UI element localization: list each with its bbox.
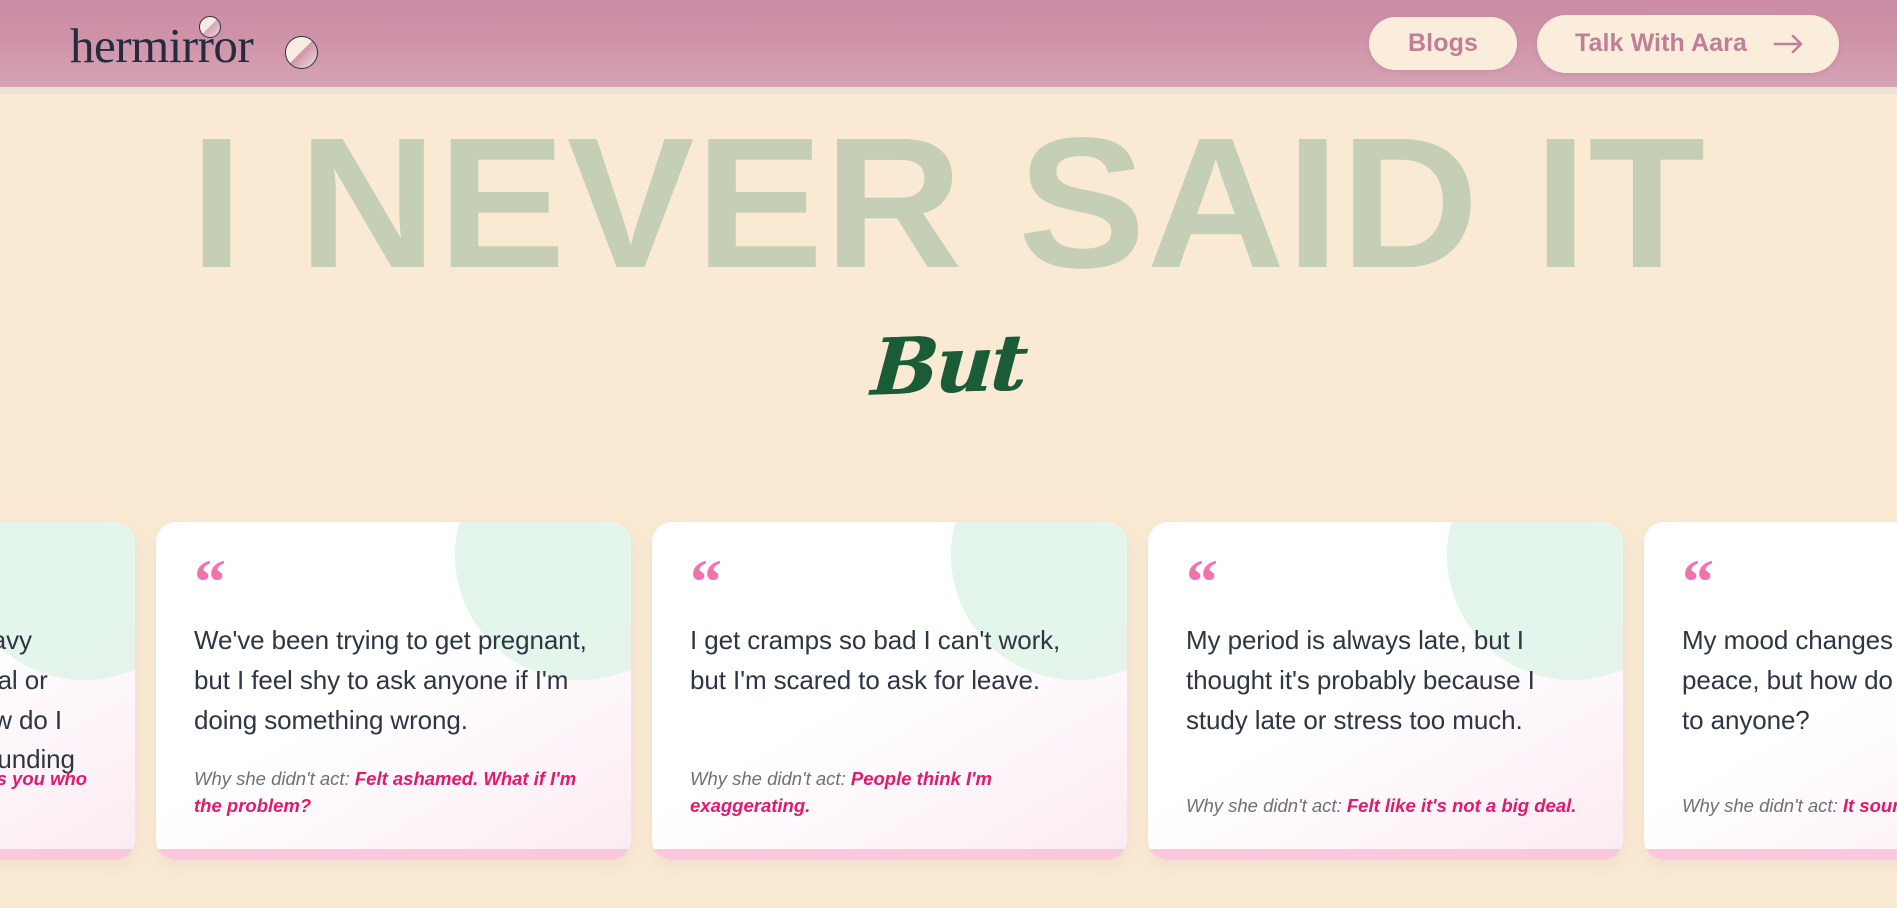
testimonial-reason: Why she didn't act: No one ever tells yo… [0,766,97,819]
testimonial-card[interactable]: “ My period is always late, but I though… [1148,522,1623,860]
reason-value: It sounds like an excuse. [1843,795,1897,816]
testimonial-reason: Why she didn't act: Felt like it's not a… [1186,793,1585,819]
testimonial-carousel[interactable]: “ I keep wondering if my heavy bleeding … [0,522,1897,860]
talk-with-aara-button[interactable]: Talk With Aara [1537,15,1839,73]
brand-logo-text: hermirror [70,18,253,73]
hero-script-word: But [869,324,1028,407]
blogs-button[interactable]: Blogs [1369,17,1517,70]
quote-icon: “ [194,564,593,604]
testimonial-quote: I get cramps so bad I can't work, but I'… [690,621,1089,701]
testimonial-card[interactable]: “ We've been trying to get pregnant, but… [156,522,631,860]
circle-split-icon-o [285,36,318,69]
testimonial-quote: My mood changes are ruining my peace, bu… [1682,621,1897,740]
reason-label: Why she didn't act: [690,768,846,789]
testimonial-reason: Why she didn't act: Felt ashamed. What i… [194,766,593,819]
quote-icon: “ [690,564,1089,604]
page-background-strip [0,860,1897,908]
landing-page: hermirror Blogs Talk With Aara I NEVER S… [0,0,1897,908]
reason-label: Why she didn't act: [1186,795,1342,816]
reason-value: Felt like it's not a big deal. [1347,795,1577,816]
site-header: hermirror Blogs Talk With Aara [0,0,1897,87]
blogs-button-label: Blogs [1408,29,1478,58]
header-underline [0,87,1897,94]
quote-icon: “ [1186,564,1585,604]
hero-section: I NEVER SAID IT But [0,94,1897,524]
talk-with-aara-label: Talk With Aara [1575,29,1747,58]
testimonial-quote: We've been trying to get pregnant, but I… [194,621,593,740]
testimonial-card[interactable]: “ My mood changes are ruining my peace, … [1644,522,1897,860]
header-nav: Blogs Talk With Aara [1369,15,1839,73]
testimonial-card[interactable]: “ I keep wondering if my heavy bleeding … [0,522,135,860]
testimonial-card[interactable]: “ I get cramps so bad I can't work, but … [652,522,1127,860]
testimonial-reason: Why she didn't act: It sounds like an ex… [1682,793,1897,819]
quote-icon: “ [1682,564,1897,604]
circle-split-icon-i [199,16,221,38]
arrow-right-icon [1773,33,1805,55]
brand-logo[interactable]: hermirror [70,17,253,70]
quote-icon: “ [0,564,97,604]
reason-label: Why she didn't act: [1682,795,1838,816]
reason-value: No one ever tells you who takes it serio… [0,768,87,815]
reason-label: Why she didn't act: [194,768,350,789]
testimonial-reason: Why she didn't act: People think I'm exa… [690,766,1089,819]
page-title: I NEVER SAID IT [190,116,1706,293]
testimonial-quote: My period is always late, but I thought … [1186,621,1585,740]
